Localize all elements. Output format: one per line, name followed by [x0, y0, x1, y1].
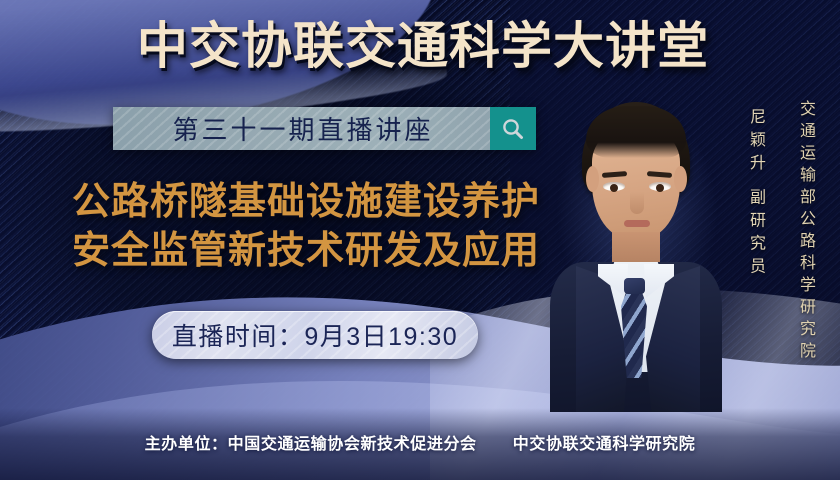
portrait-pupil-right [656, 184, 664, 192]
portrait-pupil-left [610, 184, 618, 192]
portrait-ear-left [586, 166, 599, 192]
broadcast-time-label: 直播时间：9月3日19:30 [172, 317, 458, 353]
episode-label: 第三十一期直播讲座 [169, 110, 433, 147]
portrait-mouth [624, 220, 650, 227]
speaker-name-title: 尼颖升 副研究员 [742, 108, 768, 280]
episode-search-field[interactable]: 第三十一期直播讲座 [113, 107, 490, 150]
live-lecture-poster: 中交协联交通科学大讲堂 第三十一期直播讲座 公路桥隧基础设施建设养护 安全监管新… [0, 0, 840, 480]
episode-search-bar[interactable]: 第三十一期直播讲座 [113, 107, 536, 150]
speaker-portrait [550, 94, 722, 412]
lecture-topic-line-1: 公路桥隧基础设施建设养护 [26, 178, 586, 227]
portrait-necktie-knot [624, 278, 645, 294]
broadcast-time-pill: 直播时间：9月3日19:30 [152, 311, 478, 359]
portrait-hair-fringe [586, 106, 686, 158]
footer-organizer-secondary: 中交协联交通科学研究院 [513, 436, 696, 453]
footer-organizers: 主办单位：中国交通运输协会新技术促进分会 中交协联交通科学研究院 [0, 430, 840, 454]
lecture-topic-line-2: 安全监管新技术研发及应用 [26, 227, 586, 276]
lecture-topic: 公路桥隧基础设施建设养护 安全监管新技术研发及应用 [26, 178, 586, 275]
portrait-nose [630, 192, 644, 214]
portrait-ear-right [674, 166, 687, 192]
main-title: 中交协联交通科学大讲堂 [122, 20, 724, 73]
footer-organizer-primary: 主办单位：中国交通运输协会新技术促进分会 [145, 436, 477, 453]
speaker-organization: 交通运输部公路科学研究院 [792, 100, 818, 364]
